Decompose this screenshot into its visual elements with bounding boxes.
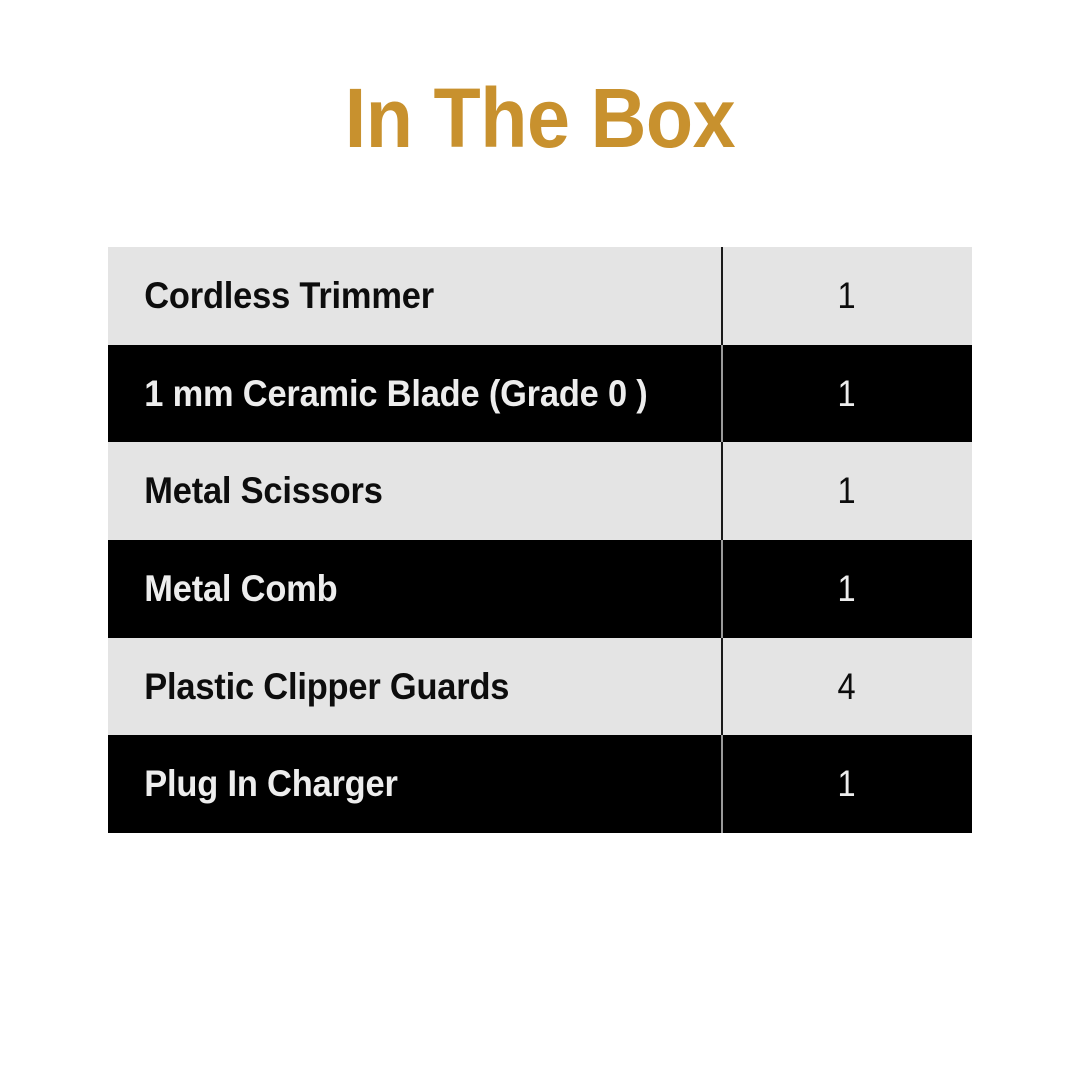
in-the-box-panel: In The Box Cordless Trimmer 1 1 mm Ceram…	[0, 0, 1080, 1080]
item-name: Metal Scissors	[108, 471, 678, 511]
table-row: 1 mm Ceramic Blade (Grade 0 ) 1	[108, 345, 972, 443]
item-quantity: 1	[736, 276, 957, 316]
item-name: 1 mm Ceramic Blade (Grade 0 )	[108, 374, 678, 414]
item-name: Cordless Trimmer	[108, 276, 678, 316]
item-quantity: 4	[736, 667, 957, 707]
item-name: Metal Comb	[108, 569, 678, 609]
table-row: Plastic Clipper Guards 4	[108, 638, 972, 736]
table-row: Cordless Trimmer 1	[108, 247, 972, 345]
item-quantity: 1	[736, 569, 957, 609]
table-row: Plug In Charger 1	[108, 735, 972, 833]
item-name: Plug In Charger	[108, 764, 678, 804]
page-title: In The Box	[43, 76, 1037, 160]
in-the-box-table: Cordless Trimmer 1 1 mm Ceramic Blade (G…	[108, 247, 972, 833]
table-row: Metal Scissors 1	[108, 442, 972, 540]
item-quantity: 1	[736, 374, 957, 414]
table-row: Metal Comb 1	[108, 540, 972, 638]
item-name: Plastic Clipper Guards	[108, 667, 678, 707]
item-quantity: 1	[736, 764, 957, 804]
item-quantity: 1	[736, 471, 957, 511]
